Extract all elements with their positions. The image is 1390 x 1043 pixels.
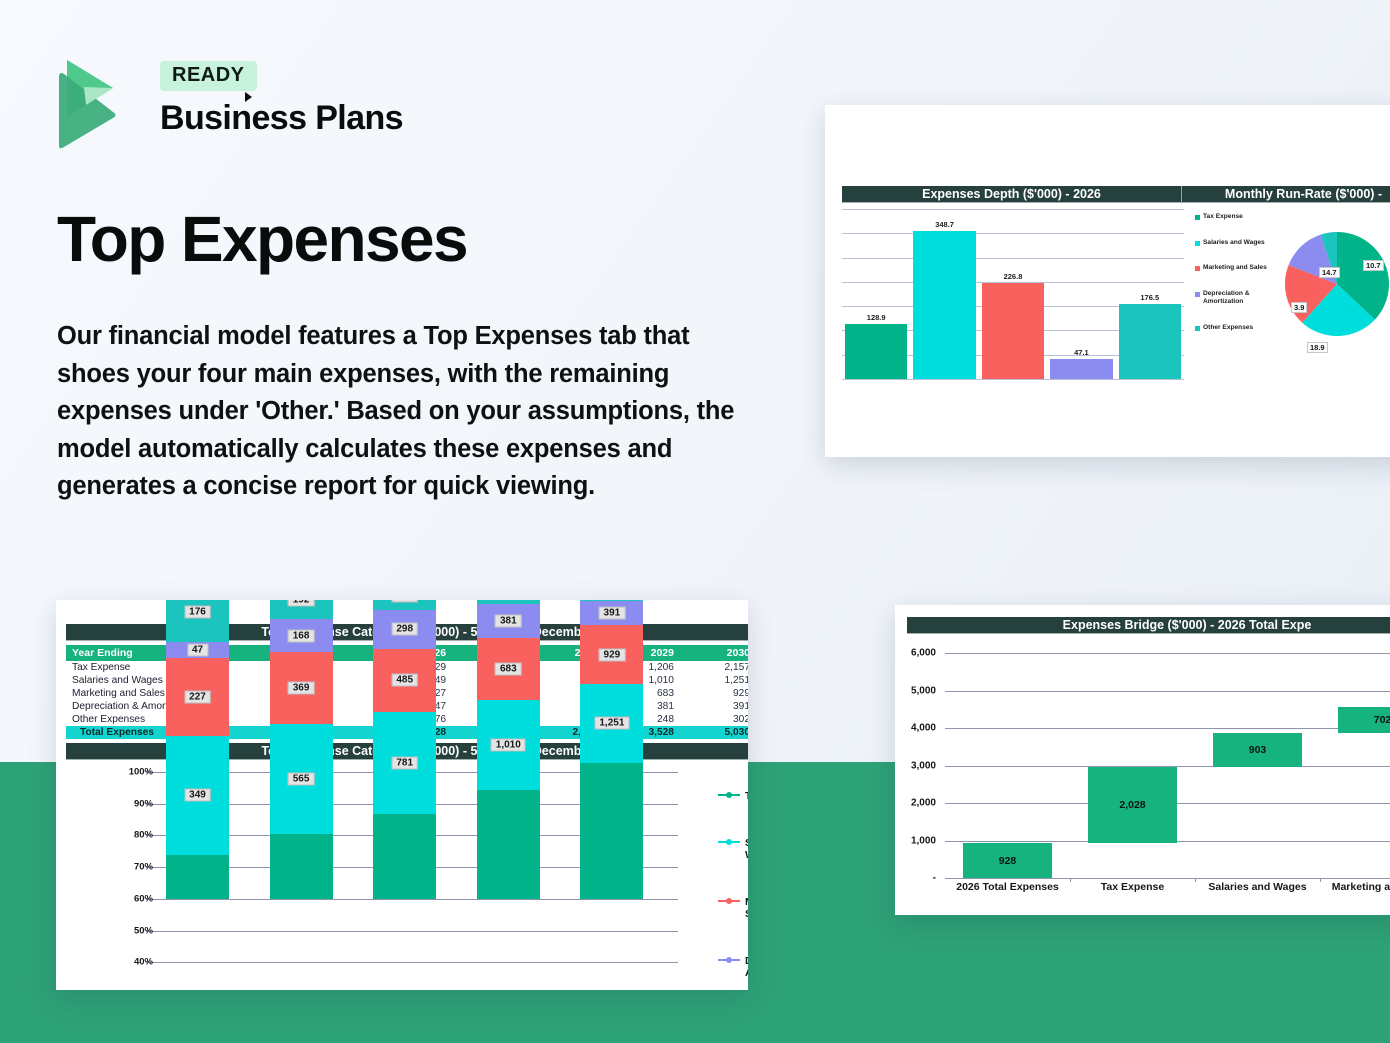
y-axis-tick-label: 50%	[134, 925, 153, 936]
stacked-bar-column: 2483816831,010	[477, 600, 540, 899]
bar-value-label: 2,028	[1119, 799, 1145, 811]
x-axis-tick-label: 2026 Total Expenses	[945, 881, 1070, 893]
legend-label: Tax Expense	[745, 790, 748, 803]
legend-marker-icon	[718, 896, 740, 905]
pie-value-label: 14.7	[1319, 267, 1340, 278]
bar	[982, 283, 1044, 379]
expenses-depth-legend: Tax ExpenseSalaries and WagesMarketing a…	[1195, 213, 1279, 350]
stacked-bar-segment: 369	[270, 652, 333, 724]
hero-description: Our financial model features a Top Expen…	[57, 318, 757, 506]
legend-swatch-icon	[1195, 266, 1200, 271]
gridline	[146, 962, 678, 963]
play-triangle-logo-icon	[56, 55, 142, 151]
legend-item: Depreciation & Amortization	[1195, 290, 1279, 307]
legend-label: Salaries andWages	[745, 837, 748, 862]
segment-value-label: 298	[391, 623, 418, 636]
legend-item: Depreciation & Amortization	[718, 955, 748, 980]
segment-value-label: 47	[187, 643, 208, 656]
table-cell: 1,251	[682, 674, 748, 687]
pie-value-label: 18.9	[1307, 342, 1328, 353]
y-axis-tick-label: 30%	[134, 989, 153, 991]
top5-stacked-bar-plot: 100%90%80%70%60%50%40%30%176472273491921…	[160, 772, 678, 990]
bar	[1119, 304, 1181, 379]
segment-value-label: 369	[288, 681, 315, 694]
segment-value-label: 683	[495, 662, 522, 675]
stacked-bar-segment: 176	[166, 600, 229, 642]
y-axis-tick-label: 90%	[134, 798, 153, 809]
legend-marker-icon	[718, 790, 740, 799]
segment-value-label: 192	[288, 600, 315, 607]
y-axis-tick-label: 40%	[134, 957, 153, 968]
segment-value-label: 168	[288, 629, 315, 642]
stacked-bar-segment	[270, 834, 333, 899]
stacked-bar-segment: 349	[166, 736, 229, 855]
y-axis-tick-label: 5,000	[911, 685, 936, 696]
stacked-bar-segment: 168	[270, 619, 333, 652]
y-axis-tick-label: 3,000	[911, 760, 936, 771]
gridline	[945, 878, 1390, 879]
pie-value-label: 10.7	[1363, 260, 1384, 271]
legend-item: Marketing and Sales	[1195, 264, 1279, 273]
table-cell: 5,030	[682, 726, 748, 739]
segment-value-label: 485	[391, 674, 418, 687]
stacked-bar-segment: 391	[580, 601, 643, 626]
segment-value-label: 781	[391, 757, 418, 770]
legend-label: Depreciation & Amortization	[1203, 290, 1279, 307]
y-axis-tick-label: 100%	[129, 767, 153, 778]
gridline	[842, 233, 1184, 234]
bar-value-label: 226.8	[979, 272, 1047, 281]
table-column-header: 2030	[682, 645, 748, 661]
segment-value-label: 349	[184, 789, 211, 802]
segment-value-label: 381	[495, 615, 522, 628]
y-axis-tick-label: 6,000	[911, 648, 936, 659]
waterfall-bar: 928	[963, 843, 1052, 878]
bar-value-label: 702	[1374, 714, 1390, 726]
expenses-bridge-title: Expenses Bridge ($'000) - 2026 Total Exp…	[907, 617, 1390, 634]
legend-item: Tax Expense	[718, 790, 748, 803]
stacked-bar-segment: 683	[477, 638, 540, 699]
segment-value-label: 214	[391, 600, 418, 602]
legend-swatch-icon	[1195, 215, 1200, 220]
segment-value-label: 176	[184, 605, 211, 618]
bar	[845, 324, 907, 379]
legend-swatch-icon	[1195, 292, 1200, 297]
stacked-bar-segment: 381	[477, 604, 540, 638]
legend-item: Salaries and Wages	[1195, 239, 1279, 248]
stacked-bar-segment	[166, 855, 229, 899]
stacked-bar-segment: 298	[373, 610, 436, 649]
stacked-bar-segment: 565	[270, 724, 333, 834]
bar-value-label: 348.7	[910, 220, 978, 229]
brand-accent-triangle-icon	[245, 92, 252, 102]
bar-value-label: 176.5	[1116, 293, 1184, 302]
monthly-run-rate-title: Monthly Run-Rate ($'000) -	[1182, 186, 1390, 203]
gridline	[945, 728, 1390, 729]
stacked-bar-segment: 1,251	[580, 684, 643, 763]
bar-value-label: 47.1	[1047, 348, 1115, 357]
waterfall-bar: 903	[1213, 733, 1302, 767]
legend-marker-icon	[718, 837, 740, 846]
gridline	[842, 379, 1184, 380]
monthly-run-rate-pie-chart: 10.714.73.918.9	[1285, 232, 1389, 341]
y-axis-tick-label: -	[933, 873, 936, 884]
segment-value-label: 929	[599, 648, 626, 661]
legend-label: Salaries and Wages	[1203, 239, 1265, 248]
ready-badge: READY	[160, 61, 257, 91]
y-axis-tick-label: 2,000	[911, 798, 936, 809]
expenses-depth-plot: 128.9348.7226.847.1176.5	[842, 209, 1184, 379]
table-cell: 302	[682, 713, 748, 726]
bar-value-label: 928	[999, 855, 1017, 867]
waterfall-bar: 2,028	[1088, 767, 1177, 843]
x-axis-tick-label: Tax Expense	[1070, 881, 1195, 893]
legend-item: Salaries andWages	[718, 837, 748, 862]
segment-value-label: 565	[288, 773, 315, 786]
brand-logo-block: READY Business Plans	[56, 55, 403, 151]
stacked-bar-segment: 227	[166, 658, 229, 736]
stacked-bar-column: 3023919291,251	[580, 600, 643, 899]
table-cell: 929	[682, 687, 748, 700]
bar	[1050, 359, 1112, 379]
legend-label: Marketing andSales	[745, 896, 748, 921]
bar-value-label: 128.9	[842, 313, 910, 322]
gridline	[146, 931, 678, 932]
waterfall-bar: 702	[1338, 707, 1390, 733]
expenses-bridge-plot: 6,0005,0004,0003,0002,0001,000-9282026 T…	[945, 653, 1390, 878]
stacked-bar-segment: 214	[373, 600, 436, 610]
table-cell: 2,157	[682, 661, 748, 674]
segment-value-label: 227	[184, 690, 211, 703]
y-axis-tick-label: 70%	[134, 862, 153, 873]
stacked-bar-column: 192168369565	[270, 600, 333, 899]
legend-item: Other Expenses	[1195, 324, 1279, 333]
expenses-bridge-card[interactable]: Expenses Bridge ($'000) - 2026 Total Exp…	[895, 605, 1390, 915]
pie-value-label: 3.9	[1291, 302, 1307, 313]
legend-marker-icon	[718, 955, 740, 964]
x-axis-tick-label: Marketing and Sales	[1320, 881, 1390, 893]
legend-item: Marketing andSales	[718, 896, 748, 921]
legend-swatch-icon	[1195, 326, 1200, 331]
stacked-bar-segment	[477, 790, 540, 898]
stacked-bar-column: 17647227349	[166, 600, 229, 899]
y-axis-tick-label: 60%	[134, 893, 153, 904]
stacked-bar-segment: 781	[373, 712, 436, 814]
stacked-bar-segment: 192	[270, 600, 333, 619]
top5-stacked-legend: Tax Expense Salaries andWages Marketing …	[718, 790, 748, 990]
expenses-depth-title: Expenses Depth ($'000) - 2026	[842, 186, 1182, 203]
legend-label: Tax Expense	[1203, 213, 1243, 222]
brand-name-text: Business Plans	[160, 99, 403, 137]
stacked-bar-segment: 47	[166, 642, 229, 658]
page-title: Top Expenses	[57, 202, 467, 276]
stacked-bar-segment: 1,010	[477, 700, 540, 791]
stacked-bar-segment	[580, 763, 643, 899]
legend-label: Other Expenses	[1203, 324, 1253, 333]
legend-label: Depreciation & Amortization	[745, 955, 748, 980]
stacked-bar-segment: 929	[580, 625, 643, 684]
gridline	[842, 258, 1184, 259]
bar	[913, 231, 975, 379]
top-card-title-bar: Expenses Depth ($'000) - 2026 Monthly Ru…	[842, 186, 1390, 203]
legend-label: Marketing and Sales	[1203, 264, 1267, 273]
y-axis-tick-label: 4,000	[911, 723, 936, 734]
y-axis-tick-label: 1,000	[911, 835, 936, 846]
gridline	[842, 209, 1184, 210]
y-axis-tick-label: 80%	[134, 830, 153, 841]
legend-swatch-icon	[1195, 241, 1200, 246]
gridline	[146, 899, 678, 900]
stacked-bar-column: 214298485781	[373, 600, 436, 899]
brand-name: Business Plans	[160, 99, 403, 138]
top5-expense-categories-card[interactable]: Top 5 Expense Categories ($'000) - 5 Yea…	[56, 600, 748, 990]
segment-value-label: 1,010	[491, 739, 526, 752]
table-cell: 391	[682, 700, 748, 713]
legend-item: Tax Expense	[1195, 213, 1279, 222]
segment-value-label: 391	[599, 607, 626, 620]
stacked-bar-segment: 485	[373, 649, 436, 712]
x-axis-tick-label: Salaries and Wages	[1195, 881, 1320, 893]
stacked-bar-segment	[373, 814, 436, 899]
gridline	[945, 653, 1390, 654]
segment-value-label: 1,251	[594, 717, 629, 730]
gridline	[945, 691, 1390, 692]
bar-value-label: 903	[1249, 744, 1267, 756]
